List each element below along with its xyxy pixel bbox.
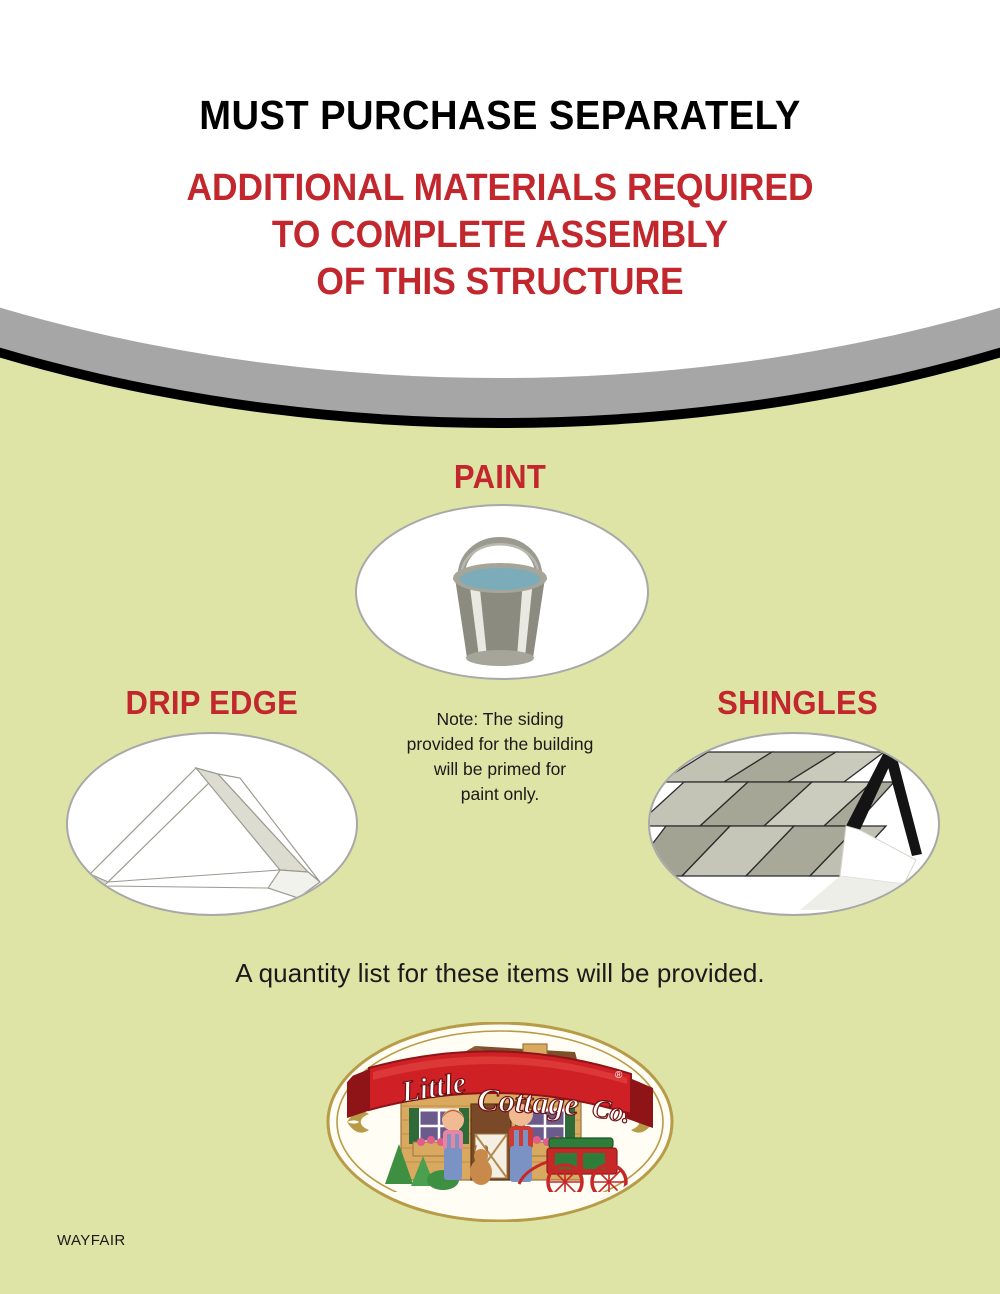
paint-note-line-4: paint only.	[370, 782, 630, 807]
page-subtitle: ADDITIONAL MATERIALS REQUIRED TO COMPLET…	[35, 137, 965, 306]
page-title: MUST PURCHASE SEPARATELY	[35, 0, 965, 137]
girl-strap-l	[447, 1134, 451, 1150]
drip-edge-spine-face	[196, 768, 308, 872]
logo-registered-mark: ®	[615, 1070, 623, 1081]
drip-edge-right-face	[218, 774, 320, 882]
wagon-top-rail	[549, 1138, 613, 1148]
boy-overalls	[510, 1146, 532, 1182]
shutter-left-a	[409, 1108, 419, 1144]
drip-edge-icon	[68, 734, 352, 910]
paint-note: Note: The siding provided for the buildi…	[370, 707, 630, 806]
subtitle-line-2: TO COMPLETE ASSEMBLY	[35, 212, 965, 259]
drip-edge-illustration-oval	[66, 732, 358, 916]
header-banner: MUST PURCHASE SEPARATELY ADDITIONAL MATE…	[0, 0, 1000, 440]
boy-strap-l	[514, 1130, 519, 1148]
paint-note-line-3: will be primed for	[370, 757, 630, 782]
drip-edge-bottom-fold	[104, 870, 280, 888]
paint-illustration-oval	[355, 504, 649, 680]
logo-graphic: Little Cottage Co. ®	[325, 1022, 675, 1222]
girl-overalls	[444, 1148, 462, 1180]
paint-note-line-2: provided for the building	[370, 732, 630, 757]
logo-ground	[325, 1192, 675, 1222]
boy-strap-r	[523, 1130, 528, 1148]
logo-word-cottage: Cottage	[477, 1081, 580, 1122]
roof-ridge-far	[884, 752, 922, 856]
dog-head	[474, 1149, 488, 1163]
drip-edge-section-label: DRIP EDGE	[126, 684, 299, 722]
girl-strap-r	[455, 1134, 459, 1150]
header-text-group: MUST PURCHASE SEPARATELY ADDITIONAL MATE…	[0, 0, 1000, 440]
drip-edge-left-face	[90, 768, 218, 882]
shingles-section-label: SHINGLES	[717, 684, 878, 722]
wayfair-watermark: WAYFAIR	[57, 1232, 126, 1249]
paint-section-label: PAINT	[30, 458, 970, 496]
paint-note-line-1: Note: The siding	[370, 707, 630, 732]
shingles-roof-icon	[650, 734, 934, 910]
subtitle-line-1: ADDITIONAL MATERIALS REQUIRED	[35, 165, 965, 212]
shingles-illustration-oval	[648, 732, 940, 916]
girl-head	[442, 1109, 464, 1131]
little-cottage-co-logo: Little Cottage Co. ®	[325, 1022, 675, 1222]
bucket-paint-surface	[460, 568, 540, 590]
quantity-note: A quantity list for these items will be …	[0, 958, 1000, 989]
logo-girl-figure	[442, 1109, 464, 1180]
subtitle-line-3: OF THIS STRUCTURE	[35, 259, 965, 306]
paint-bucket-icon	[357, 506, 643, 674]
bucket-base	[466, 650, 534, 666]
